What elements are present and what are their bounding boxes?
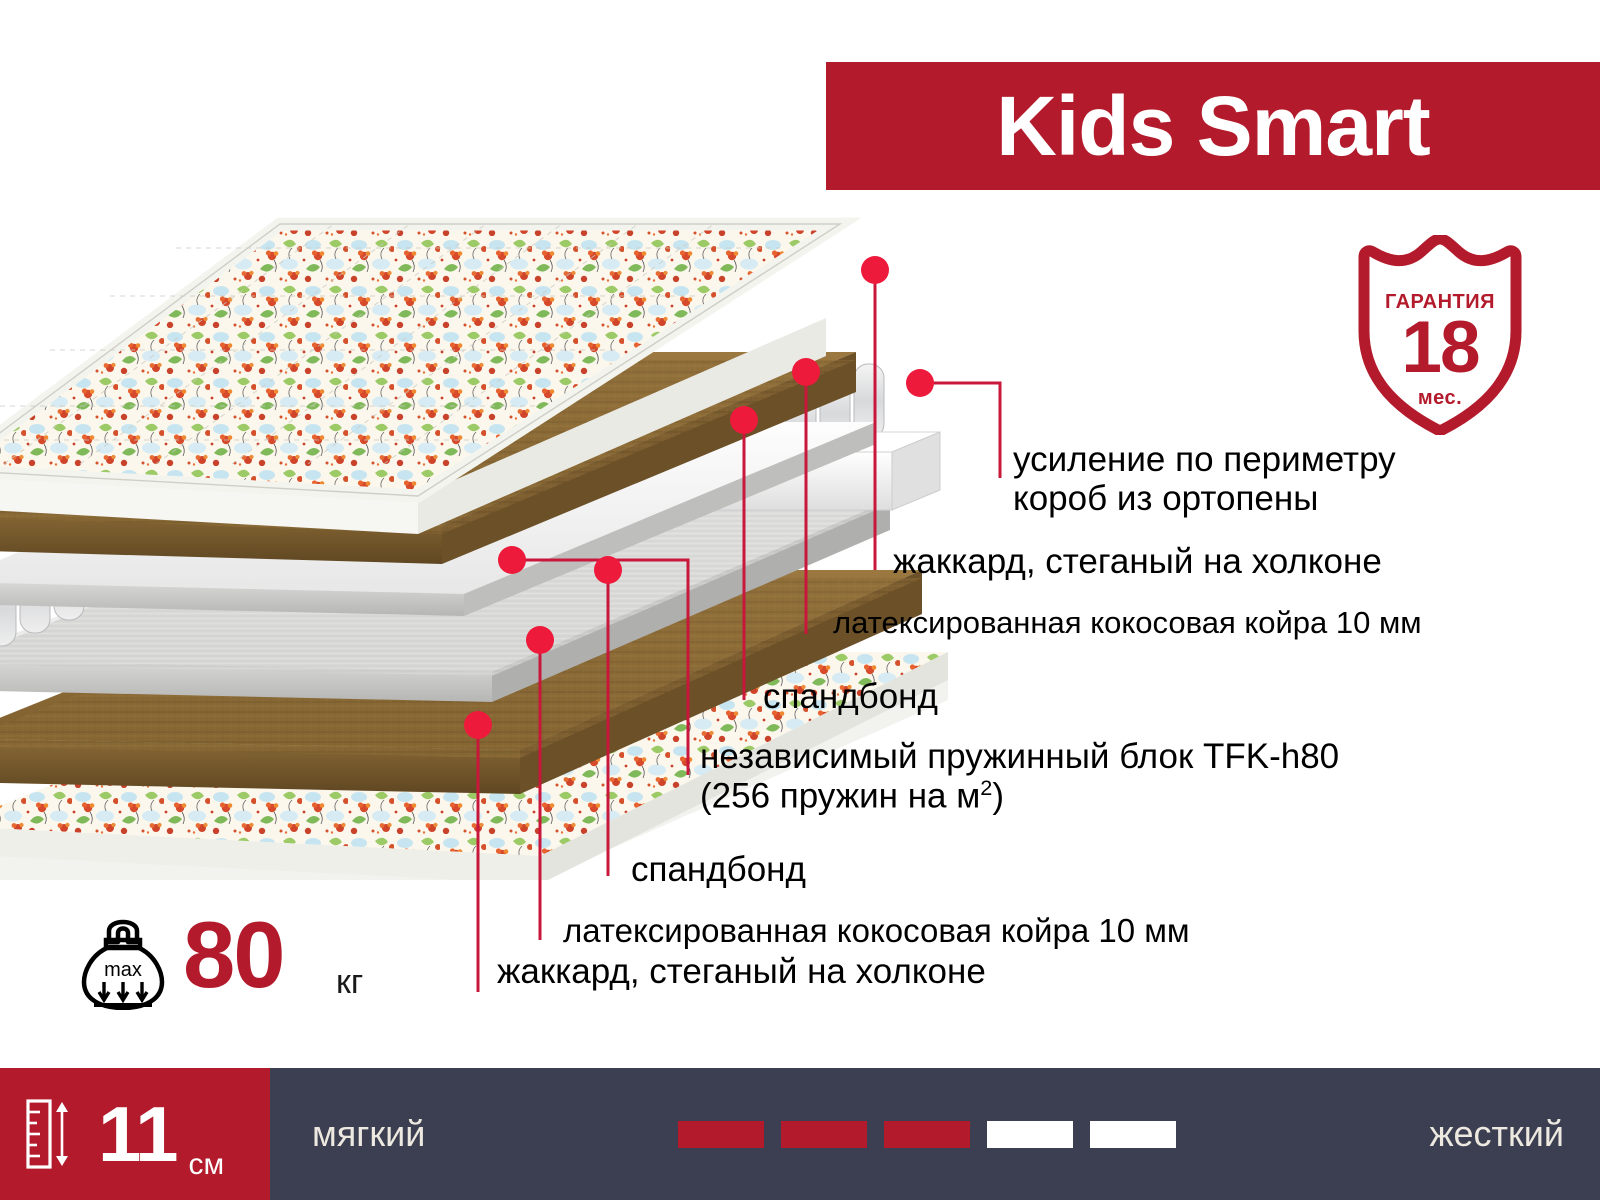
callout-dot-perimeter xyxy=(906,369,934,397)
firmness-soft-label: мягкий xyxy=(312,1113,425,1155)
max-load-icon-label: max xyxy=(104,959,142,981)
callout-line-1: усиление по периметру xyxy=(1013,440,1396,479)
height-block: 11 см xyxy=(0,1068,270,1200)
callout-dot-jacquard-bottom xyxy=(464,711,492,739)
firmness-segment-4 xyxy=(987,1121,1073,1148)
callout-dot-spunbond-bottom xyxy=(594,556,622,584)
callout-line-2: (256 пружин на м2) xyxy=(700,776,1339,816)
callout-dot-spunbond-top xyxy=(730,406,758,434)
firmness-segment-3 xyxy=(884,1121,970,1148)
max-load-value: 80 xyxy=(183,908,284,1002)
firmness-scale-block: мягкий жесткий xyxy=(270,1068,1600,1200)
firmness-segment-2 xyxy=(781,1121,867,1148)
max-load-block: max 80 кг xyxy=(78,910,398,1015)
bottom-spec-bar: 11 см мягкий жесткий xyxy=(0,1068,1600,1200)
callout-label-jacquard-top: жаккард, стеганый на холконе xyxy=(893,542,1382,581)
kettlebell-icon: max xyxy=(78,910,168,1010)
callout-label-spunbond-top: спандбонд xyxy=(763,677,938,716)
callout-dot-jacquard-top xyxy=(861,256,889,284)
callout-dot-coir-bottom xyxy=(526,626,554,654)
callout-label-coir-top: латексированная кокосовая койра 10 мм xyxy=(833,606,1422,641)
firmness-segment-1 xyxy=(678,1121,764,1148)
callout-leader-lines xyxy=(0,0,1600,1200)
callout-dot-spring-block xyxy=(498,546,526,574)
callout-label-spunbond-bottom: спандбонд xyxy=(631,850,806,889)
callout-label-spring-block: независимый пружинный блок TFK-h80 (256 … xyxy=(700,737,1339,816)
height-value: 11 xyxy=(98,1095,176,1173)
callout-label-jacquard-bottom: жаккард, стеганый на холконе xyxy=(497,952,986,991)
callout-line-2: короб из ортопены xyxy=(1013,479,1396,518)
product-infographic: Kids Smart ГАРАНТИЯ 18 мес. xyxy=(0,0,1600,1200)
callout-label-perimeter-reinforcement: усиление по периметру короб из ортопены xyxy=(1013,440,1396,518)
max-load-unit: кг xyxy=(336,963,363,1002)
callout-line-1: независимый пружинный блок TFK-h80 xyxy=(700,737,1339,776)
callout-label-coir-bottom: латексированная кокосовая койра 10 мм xyxy=(563,913,1190,950)
ruler-icon xyxy=(26,1098,76,1170)
firmness-segment-5 xyxy=(1090,1121,1176,1148)
firmness-hard-label: жесткий xyxy=(1429,1113,1564,1155)
callout-dot-coir-top xyxy=(792,358,820,386)
height-unit: см xyxy=(188,1148,224,1182)
firmness-scale xyxy=(678,1121,1176,1148)
